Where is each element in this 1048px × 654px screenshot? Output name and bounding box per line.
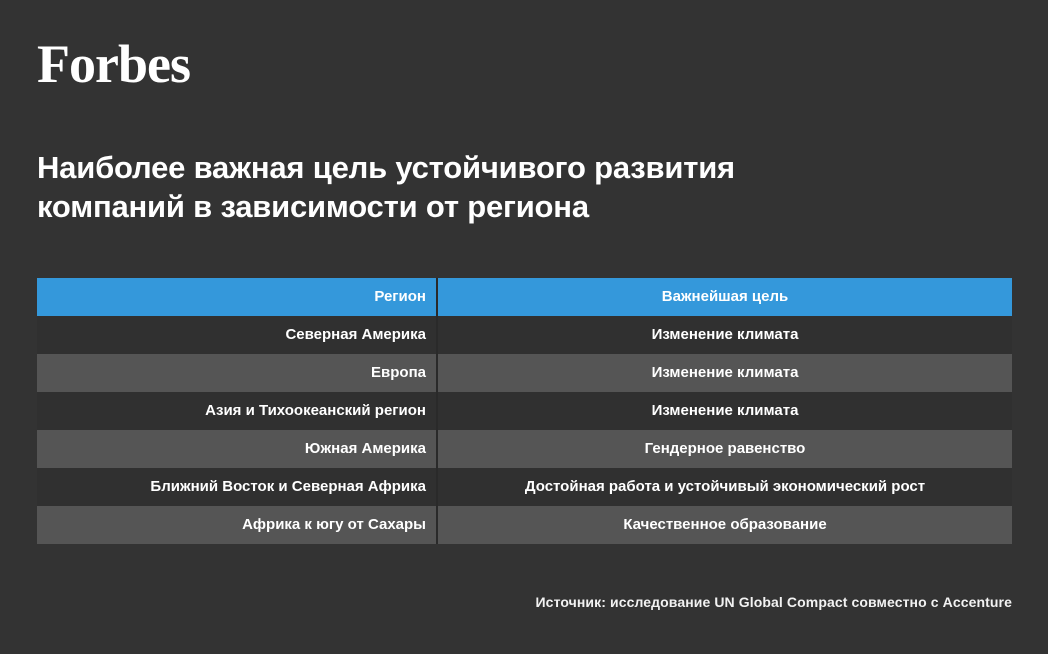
infographic-page: Forbes Наиболее важная цель устойчивого … (0, 0, 1048, 654)
cell-goal: Изменение климата (437, 392, 1012, 430)
page-title-line-2: компаний в зависимости от региона (37, 187, 957, 226)
cell-region: Европа (37, 354, 437, 392)
table-row: Азия и Тихоокеанский регион Изменение кл… (37, 392, 1012, 430)
column-header-region: Регион (37, 278, 437, 316)
cell-region: Ближний Восток и Северная Африка (37, 468, 437, 506)
cell-goal: Изменение климата (437, 316, 1012, 354)
table-row: Южная Америка Гендерное равенство (37, 430, 1012, 468)
cell-region: Африка к югу от Сахары (37, 506, 437, 544)
cell-goal: Достойная работа и устойчивый экономичес… (437, 468, 1012, 506)
cell-goal: Изменение климата (437, 354, 1012, 392)
table-row: Северная Америка Изменение климата (37, 316, 1012, 354)
table-row: Африка к югу от Сахары Качественное обра… (37, 506, 1012, 544)
table-body: Северная Америка Изменение климата Европ… (37, 316, 1012, 544)
table-row: Ближний Восток и Северная Африка Достойн… (37, 468, 1012, 506)
cell-region: Азия и Тихоокеанский регион (37, 392, 437, 430)
table-header: Регион Важнейшая цель (37, 278, 1012, 316)
source-note: Источник: исследование UN Global Compact… (536, 594, 1012, 610)
table-row: Европа Изменение климата (37, 354, 1012, 392)
page-title: Наиболее важная цель устойчивого развити… (37, 148, 957, 226)
table-header-row: Регион Важнейшая цель (37, 278, 1012, 316)
column-header-goal: Важнейшая цель (437, 278, 1012, 316)
page-title-line-1: Наиболее важная цель устойчивого развити… (37, 148, 957, 187)
forbes-logo: Forbes (37, 36, 190, 92)
cell-goal: Гендерное равенство (437, 430, 1012, 468)
cell-region: Северная Америка (37, 316, 437, 354)
region-goal-table: Регион Важнейшая цель Северная Америка И… (37, 278, 1012, 544)
cell-goal: Качественное образование (437, 506, 1012, 544)
cell-region: Южная Америка (37, 430, 437, 468)
